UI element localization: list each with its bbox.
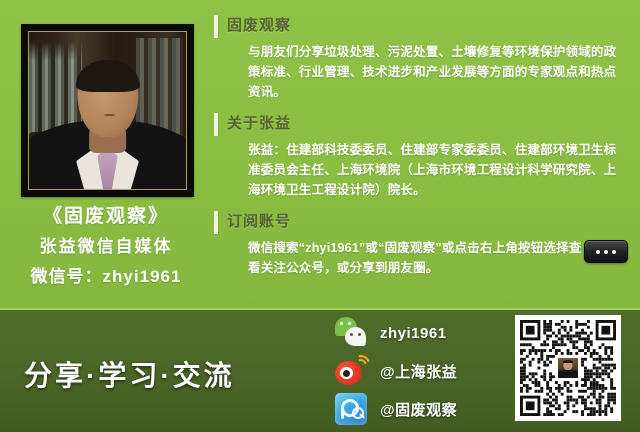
brand-wechat-id: 微信号：zhyi1961 (0, 262, 212, 292)
section-marker-bar-icon (214, 113, 218, 136)
section-3-header: 订阅账号 (212, 210, 640, 236)
qr-canvas (520, 320, 616, 416)
section-2-header: 关于张益 (212, 112, 640, 138)
section-1-title: 固废观察 (227, 17, 291, 34)
social-row-wechat[interactable]: zhyi1961 (334, 314, 504, 352)
more-options-button[interactable] (584, 240, 628, 263)
section-1-header: 固废观察 (212, 14, 640, 40)
portrait-eye-right (111, 87, 120, 91)
profile-column: 《固废观察》 张益微信自媒体 微信号：zhyi1961 (0, 0, 212, 308)
section-2-title: 关于张益 (227, 115, 291, 132)
social-handles-list: zhyi1961 @上海张益 @固废观察 (334, 314, 504, 428)
dot-icon (604, 250, 608, 254)
section-guфеi: 固废观察 与朋友们分享垃圾处理、污泥处置、土壤修复等环境保护领域的政策标准、行业… (212, 14, 640, 102)
wechat-public-account-poster: 《固废观察》 张益微信自媒体 微信号：zhyi1961 固废观察 与朋友们分享垃… (0, 0, 640, 432)
wechat-handle: zhyi1961 (380, 325, 447, 342)
social-row-qq[interactable]: @固废观察 (334, 390, 504, 428)
dot-icon (596, 250, 600, 254)
section-marker-bar-icon (214, 15, 218, 38)
qq-handle: @固废观察 (380, 399, 457, 420)
qr-center-logo (556, 356, 580, 380)
brand-title: 《固废观察》 (0, 202, 212, 232)
wechat-icon (334, 316, 368, 350)
section-subscribe: 订阅账号 微信搜索“zhyi1961”或“固废观察”或点击右上角按钮选择查看关注… (212, 210, 640, 278)
section-3-title: 订阅账号 (227, 213, 291, 230)
weibo-handle: @上海张益 (380, 361, 457, 382)
social-row-weibo[interactable]: @上海张益 (334, 352, 504, 390)
sections-column: 固废观察 与朋友们分享垃圾处理、污泥处置、土壤修复等环境保护领域的政策标准、行业… (212, 0, 640, 308)
portrait-photo-frame (21, 24, 194, 197)
brand-block: 《固废观察》 张益微信自媒体 微信号：zhyi1961 (0, 202, 212, 292)
qq-icon (334, 392, 368, 426)
weibo-icon (334, 354, 368, 388)
brand-subtitle: 张益微信自媒体 (0, 232, 212, 262)
wechat-qr-code[interactable] (515, 315, 621, 421)
section-about-zhangyi: 关于张益 张益：住建部科技委委员、住建部专家委委员、住建部环境卫生标准委员会主任… (212, 112, 640, 200)
dot-icon (612, 250, 616, 254)
section-1-body: 与朋友们分享垃圾处理、污泥处置、土壤修复等环境保护领域的政策标准、行业管理、技术… (248, 42, 624, 102)
footer-slogan: 分享·学习·交流 (24, 354, 235, 394)
portrait-eye-left (92, 87, 101, 91)
section-3-body: 微信搜索“zhyi1961”或“固废观察”或点击右上角按钮选择查看关注公众号，或… (248, 238, 588, 278)
portrait-photo (28, 31, 187, 190)
section-marker-bar-icon (214, 211, 218, 234)
section-2-body: 张益：住建部科技委委员、住建部专家委委员、住建部环境卫生标准委员会主任、上海环境… (248, 140, 624, 200)
